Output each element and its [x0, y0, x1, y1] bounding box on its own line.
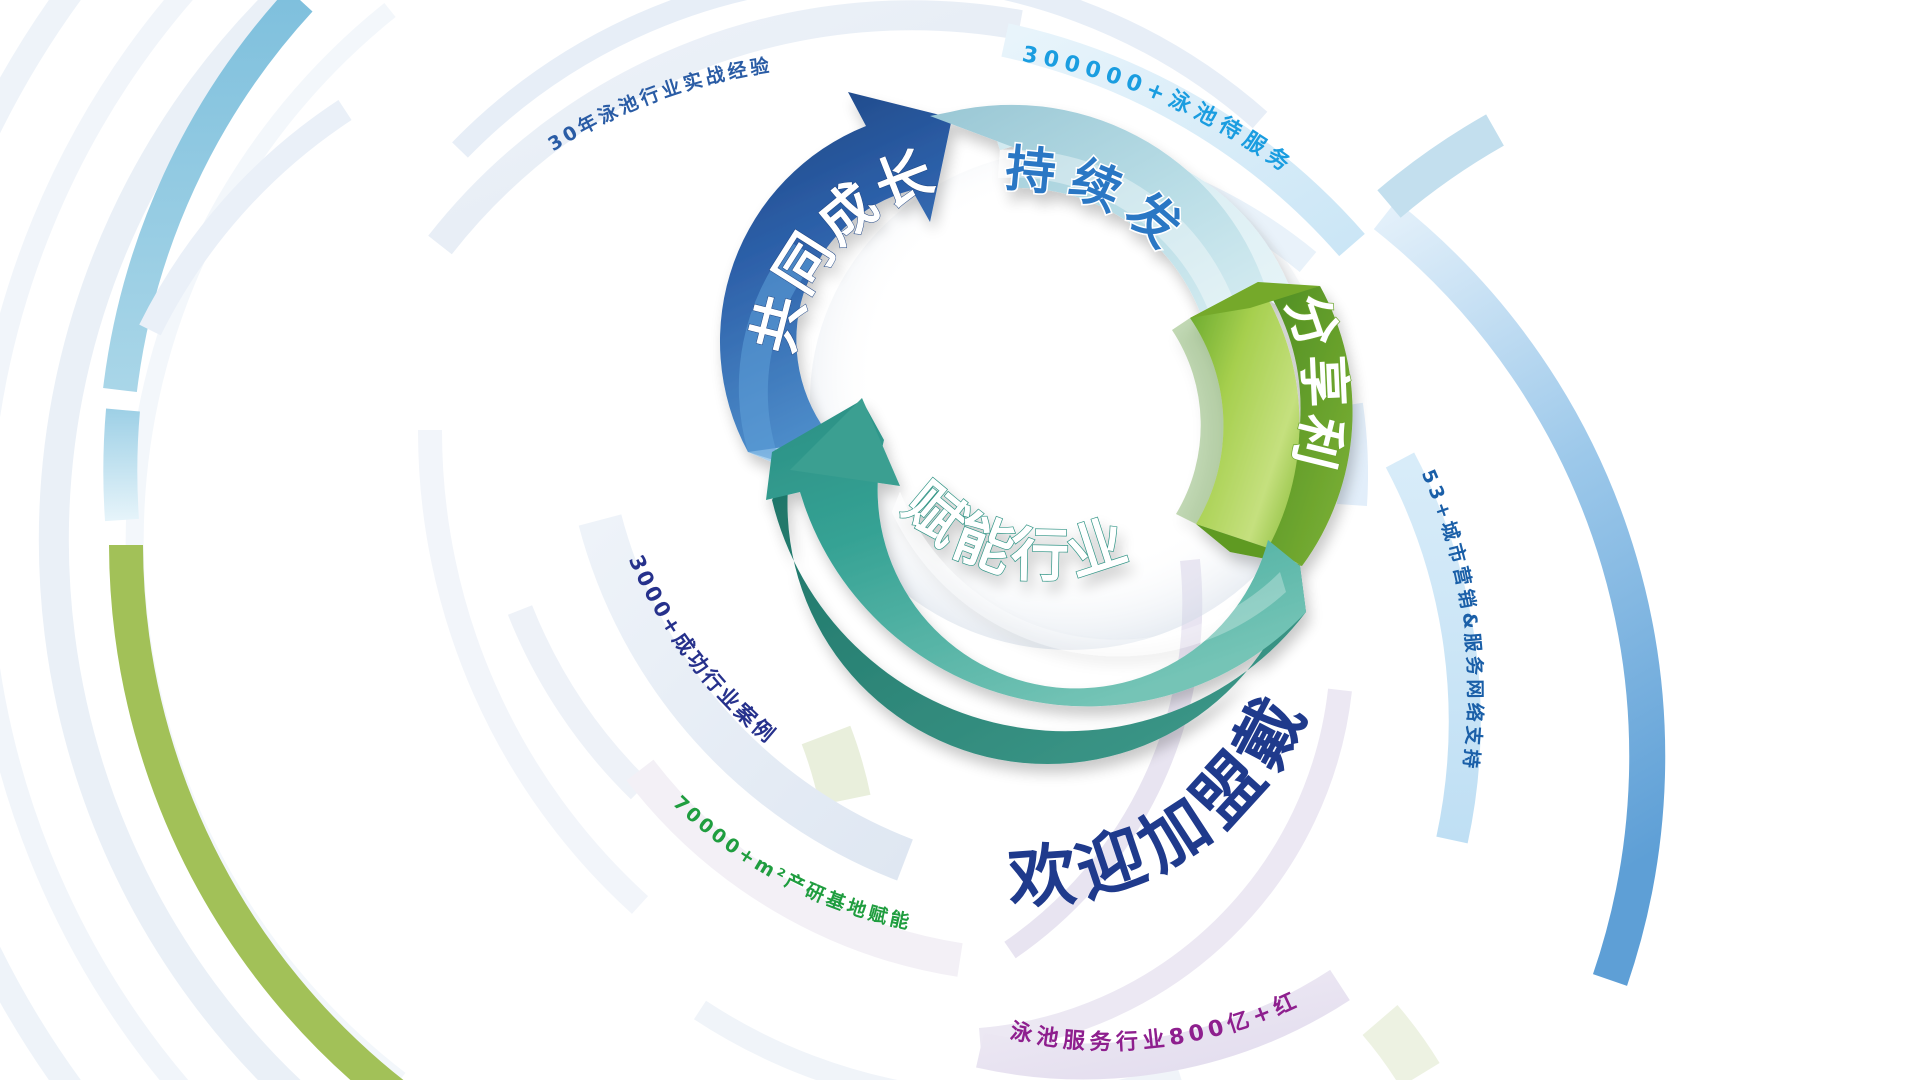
poster-canvas: 共同成长 持续发展 分享利益	[0, 0, 1920, 1080]
infographic-artwork: 共同成长 持续发展 分享利益	[0, 0, 1920, 1080]
arc-blue-right	[1385, 215, 1647, 980]
arc-blue-topleft-2	[120, 410, 123, 520]
accent-olive-block-2	[1380, 1020, 1420, 1075]
arc-blue-right-cap	[1389, 130, 1495, 204]
accent-olive-block	[826, 735, 845, 800]
